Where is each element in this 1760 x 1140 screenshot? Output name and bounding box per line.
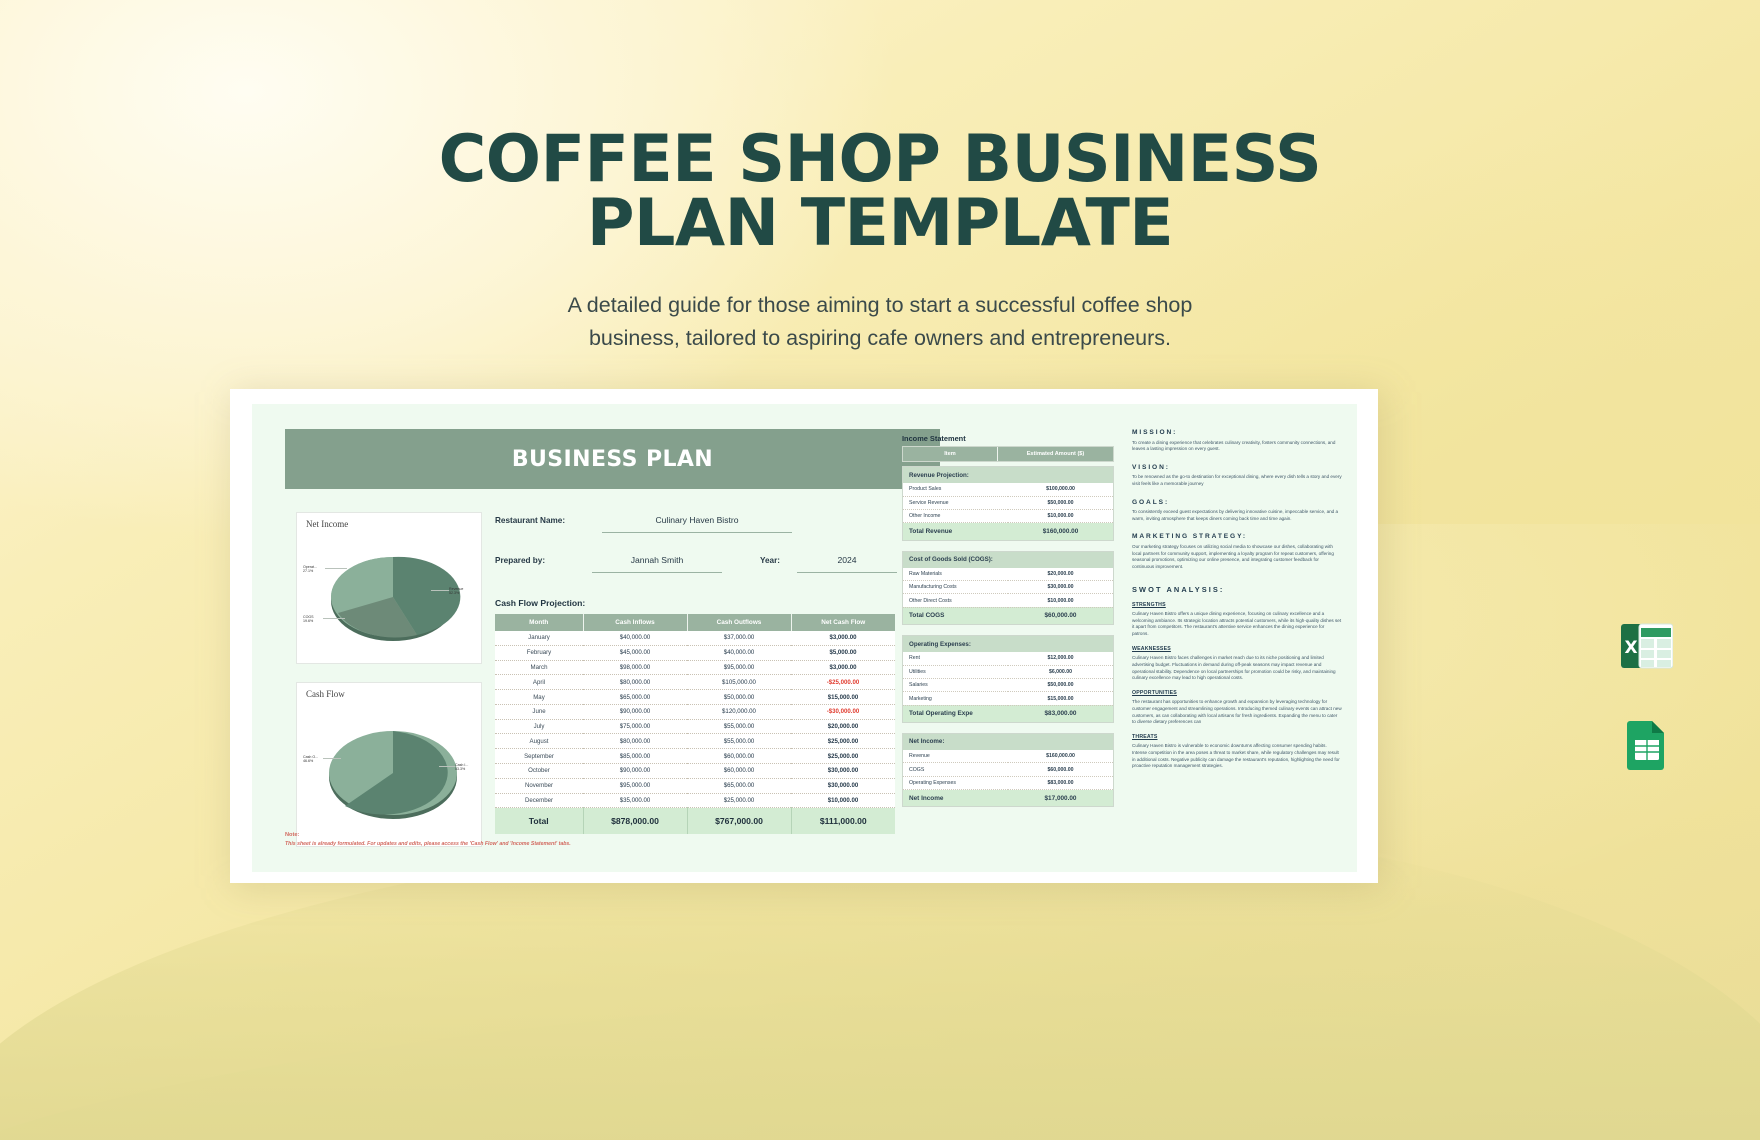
col-cash-inflows: Cash Inflows [583, 614, 687, 631]
cell-cash-inflow: $35,000.00 [583, 793, 687, 808]
pie-leader-cash-in [439, 766, 455, 767]
chart-title-net-income: Net Income [306, 519, 348, 529]
pie-leader-cash-out [323, 758, 341, 759]
col-month: Month [495, 614, 583, 631]
cell-net-cash-flow: $25,000.00 [791, 734, 895, 749]
is-total-label: Total Revenue [903, 523, 1008, 540]
is-total-amount: $160,000.00 [1008, 523, 1113, 540]
pie-label-revenue: Revenue 52.3% [449, 587, 463, 596]
is-total-label: Net Income [903, 790, 1008, 807]
cell-month: October [495, 764, 583, 779]
is-amount: $15,000.00 [1008, 692, 1113, 705]
cell-cash-inflow: $90,000.00 [583, 764, 687, 779]
marketing-strategy-heading: MARKETING STRATEGY: [1132, 533, 1342, 540]
cash-flow-table[interactable]: Month Cash Inflows Cash Outflows Net Cas… [495, 614, 895, 834]
cell-net-cash-flow: -$30,000.00 [791, 704, 895, 719]
year-rule [797, 572, 897, 573]
business-plan-banner: BUSINESS PLAN [285, 429, 940, 489]
strengths-paragraph: Culinary Haven Bistro offers a unique di… [1132, 611, 1342, 638]
strengths-heading: STRENGTHS [1132, 602, 1342, 608]
pie-label-cash-in-text: Cash I... [455, 763, 468, 767]
pie-label-cogs-text: COGS [303, 615, 314, 619]
is-total-row: Net Income$17,000.00 [903, 790, 1113, 807]
page-subtitle-line1: A detailed guide for those aiming to sta… [0, 289, 1760, 321]
pie-leader-revenue [431, 590, 449, 591]
is-row[interactable]: Salaries$50,000.00 [903, 678, 1113, 691]
restaurant-name-label: Restaurant Name: [495, 516, 565, 525]
is-row[interactable]: Other Income$10,000.00 [903, 509, 1113, 522]
is-row[interactable]: Operating Expenses$83,000.00 [903, 776, 1113, 789]
income-statement-label: Income Statement [902, 434, 966, 443]
cell-month: June [495, 704, 583, 719]
pie-label-revenue-text: Revenue [449, 587, 463, 591]
cell-month: July [495, 719, 583, 734]
prepared-by-label: Prepared by: [495, 556, 545, 565]
is-total-amount: $60,000.00 [1008, 607, 1113, 624]
opportunities-heading: OPPORTUNITIES [1132, 690, 1342, 696]
banner-title: BUSINESS PLAN [512, 447, 713, 472]
pie-label-cogs-value: 19.6% [303, 619, 313, 623]
table-row[interactable]: January$40,000.00$37,000.00$3,000.00 [495, 631, 895, 645]
page-header: COFFEE SHOP BUSINESS PLAN TEMPLATE A det… [0, 128, 1760, 354]
is-amount: $30,000.00 [1008, 581, 1113, 594]
is-item: Other Direct Costs [903, 594, 1008, 607]
is-item: Revenue [903, 750, 1008, 763]
cell-cash-outflow: $25,000.00 [687, 793, 791, 808]
cell-month: August [495, 734, 583, 749]
table-row[interactable]: May$65,000.00$50,000.00$15,000.00 [495, 690, 895, 705]
is-item: Rent [903, 652, 1008, 665]
is-item: Raw Materials [903, 568, 1008, 581]
cell-cash-inflow: $95,000.00 [583, 778, 687, 793]
chart-card-net-income: Net Income Operat... 27.1% Revenue 52.3% [296, 512, 482, 664]
is-row[interactable]: Product Sales$100,000.00 [903, 483, 1113, 496]
cell-net-cash-flow: $3,000.00 [791, 631, 895, 645]
cell-cash-inflow: $98,000.00 [583, 660, 687, 675]
is-item: COGS [903, 763, 1008, 776]
swot-analysis-heading: SWOT ANALYSIS: [1132, 585, 1342, 594]
is-item: Manufacturing Costs [903, 581, 1008, 594]
cell-net-cash-flow: -$25,000.00 [791, 675, 895, 690]
income-statement-block[interactable]: ItemEstimated Amount ($)Revenue Projecti… [902, 446, 1114, 817]
document-preview[interactable]: BUSINESS PLAN Net Income Operat... 27.1% [230, 389, 1378, 883]
is-amount: $83,000.00 [1008, 776, 1113, 789]
cell-net-cash-flow: $5,000.00 [791, 645, 895, 660]
threats-paragraph: Culinary Haven Bistro is vulnerable to e… [1132, 743, 1342, 770]
table-row[interactable]: April$80,000.00$105,000.00-$25,000.00 [495, 675, 895, 690]
cell-net-cash-flow: $25,000.00 [791, 749, 895, 764]
cash-flow-body: January$40,000.00$37,000.00$3,000.00Febr… [495, 631, 895, 834]
is-total-label: Total Operating Expe [903, 705, 1008, 722]
cell-cash-inflow: $40,000.00 [583, 631, 687, 645]
is-total-label: Total COGS [903, 607, 1008, 624]
cell-net-cash-flow: $30,000.00 [791, 778, 895, 793]
pie-label-revenue-value: 52.3% [449, 591, 459, 595]
is-amount: $6,000.00 [1008, 665, 1113, 678]
is-row[interactable]: Utilities$6,000.00 [903, 665, 1113, 678]
pie-label-cash-out-value: 46.6% [303, 759, 313, 763]
is-row[interactable]: COGS$60,000.00 [903, 763, 1113, 776]
pie-label-cash-out: Cash O... 46.6% [303, 755, 318, 764]
table-row[interactable]: November$95,000.00$65,000.00$30,000.00 [495, 778, 895, 793]
income-statement-group-3[interactable]: Net Income:Revenue$160,000.00COGS$60,000… [902, 733, 1114, 808]
cell-month: January [495, 631, 583, 645]
mission-paragraph: To create a dining experience that celeb… [1132, 440, 1342, 453]
is-item: Other Income [903, 509, 1008, 522]
is-group-head: Net Income: [903, 734, 1113, 750]
is-total-amount: $83,000.00 [1008, 705, 1113, 722]
pie-chart-cash-flow: Cash O... 46.6% Cash I... 53.3% [297, 705, 481, 842]
cell-month: March [495, 660, 583, 675]
cell-cash-inflow: $80,000.00 [583, 734, 687, 749]
is-amount: $50,000.00 [1008, 496, 1113, 509]
pie-leader-cogs [323, 618, 345, 619]
cell-month: April [495, 675, 583, 690]
table-row[interactable]: September$85,000.00$60,000.00$25,000.00 [495, 749, 895, 764]
is-item: Marketing [903, 692, 1008, 705]
chart-card-cash-flow: Cash Flow Cash O... 46.6% Cash I... 53.3… [296, 682, 482, 847]
cell-cash-inflow: $80,000.00 [583, 675, 687, 690]
cell-cash-outflow: $50,000.00 [687, 690, 791, 705]
table-row[interactable]: March$98,000.00$95,000.00$3,000.00 [495, 660, 895, 675]
is-amount: $10,000.00 [1008, 509, 1113, 522]
is-group-head: Operating Expenses: [903, 636, 1113, 652]
vision-heading: VISION: [1132, 464, 1342, 471]
vision-paragraph: To be renowned as the go-to destination … [1132, 474, 1342, 487]
is-amount: $60,000.00 [1008, 763, 1113, 776]
cell-cash-outflow: $120,000.00 [687, 704, 791, 719]
is-total-row: Total Operating Expe$83,000.00 [903, 705, 1113, 722]
is-item: Operating Expenses [903, 776, 1008, 789]
is-total-amount: $17,000.00 [1008, 790, 1113, 807]
prepared-by-rule [592, 572, 722, 573]
cell-cash-outflow: $37,000.00 [687, 631, 791, 645]
weaknesses-paragraph: Culinary Haven Bistro faces challenges i… [1132, 655, 1342, 682]
is-amount: $20,000.00 [1008, 568, 1113, 581]
is-amount: $100,000.00 [1008, 483, 1113, 496]
table-row[interactable]: August$80,000.00$55,000.00$25,000.00 [495, 734, 895, 749]
opportunities-paragraph: The restaurant has opportunities to enha… [1132, 699, 1342, 726]
cell-net-cash-flow: $30,000.00 [791, 764, 895, 779]
weaknesses-heading: WEAKNESSES [1132, 646, 1342, 652]
cell-month: February [495, 645, 583, 660]
cell-month: September [495, 749, 583, 764]
pie-label-cash-in: Cash I... 53.3% [455, 763, 468, 772]
total-cell-0: Total [495, 808, 583, 835]
pie-label-operating-text: Operat... [303, 565, 317, 569]
prepared-by-value[interactable]: Jannah Smith [592, 555, 722, 565]
cell-cash-inflow: $85,000.00 [583, 749, 687, 764]
cell-cash-inflow: $65,000.00 [583, 690, 687, 705]
is-row[interactable]: Rent$12,000.00 [903, 652, 1113, 665]
spreadsheet-sheet: BUSINESS PLAN Net Income Operat... 27.1% [252, 404, 1357, 872]
is-amount: $10,000.00 [1008, 594, 1113, 607]
pie-label-cash-in-value: 53.3% [455, 767, 465, 771]
cell-cash-outflow: $40,000.00 [687, 645, 791, 660]
mission-heading: MISSION: [1132, 429, 1342, 436]
cell-cash-outflow: $105,000.00 [687, 675, 791, 690]
is-row[interactable]: Service Revenue$50,000.00 [903, 496, 1113, 509]
is-amount: $50,000.00 [1008, 678, 1113, 691]
marketing-strategy-paragraph: Our marketing strategy focuses on utiliz… [1132, 544, 1342, 571]
note-body: This sheet is already formulated. For up… [285, 841, 571, 847]
table-row[interactable]: February$45,000.00$40,000.00$5,000.00 [495, 645, 895, 660]
page-subtitle-line2: business, tailored to aspiring cafe owne… [0, 322, 1760, 354]
year-label: Year: [760, 556, 780, 565]
cell-cash-outflow: $55,000.00 [687, 734, 791, 749]
cell-cash-outflow: $55,000.00 [687, 719, 791, 734]
goals-heading: GOALS: [1132, 499, 1342, 506]
table-row[interactable]: July$75,000.00$55,000.00$20,000.00 [495, 719, 895, 734]
table-row[interactable]: December$35,000.00$25,000.00$10,000.00 [495, 793, 895, 808]
cell-month: December [495, 793, 583, 808]
cell-cash-outflow: $60,000.00 [687, 764, 791, 779]
cell-net-cash-flow: $15,000.00 [791, 690, 895, 705]
total-cell-2: $767,000.00 [687, 808, 791, 835]
cell-cash-outflow: $65,000.00 [687, 778, 791, 793]
income-statement-header: ItemEstimated Amount ($) [902, 446, 1114, 462]
is-group-head: Revenue Projection: [903, 467, 1113, 483]
is-row[interactable]: Raw Materials$20,000.00 [903, 568, 1113, 581]
goals-paragraph: To consistently exceed guest expectation… [1132, 509, 1342, 522]
cell-net-cash-flow: $20,000.00 [791, 719, 895, 734]
is-amount: $12,000.00 [1008, 652, 1113, 665]
cash-flow-header-row: Month Cash Inflows Cash Outflows Net Cas… [495, 614, 895, 631]
svg-text:X: X [1624, 638, 1637, 658]
pie-leader-operating [325, 568, 347, 569]
cell-month: November [495, 778, 583, 793]
is-item: Utilities [903, 665, 1008, 678]
pie-label-cash-out-text: Cash O... [303, 755, 318, 759]
total-cell-3: $111,000.00 [791, 808, 895, 835]
pie-label-operating-value: 27.1% [303, 569, 313, 573]
is-item: Service Revenue [903, 496, 1008, 509]
cash-flow-section-label: Cash Flow Projection: [495, 598, 585, 608]
pie-chart-net-income: Operat... 27.1% Revenue 52.3% COGS 19.6% [297, 535, 481, 659]
cell-cash-inflow: $45,000.00 [583, 645, 687, 660]
note-title: Note: [285, 832, 299, 838]
is-total-row: Total Revenue$160,000.00 [903, 523, 1113, 540]
cell-cash-inflow: $75,000.00 [583, 719, 687, 734]
is-col-amount: Estimated Amount ($) [998, 447, 1114, 461]
google-sheets-icon[interactable] [1621, 718, 1673, 770]
table-row[interactable]: October$90,000.00$60,000.00$30,000.00 [495, 764, 895, 779]
pie-label-cogs: COGS 19.6% [303, 615, 314, 624]
page-subtitle: A detailed guide for those aiming to sta… [0, 289, 1760, 354]
cell-cash-outflow: $95,000.00 [687, 660, 791, 675]
is-item: Salaries [903, 678, 1008, 691]
income-statement-group-2[interactable]: Operating Expenses:Rent$12,000.00Utiliti… [902, 635, 1114, 723]
page-title-line2: PLAN TEMPLATE [0, 192, 1760, 256]
col-cash-outflows: Cash Outflows [687, 614, 791, 631]
table-total-row: Total$878,000.00$767,000.00$111,000.00 [495, 808, 895, 835]
income-statement-group-1[interactable]: Cost of Goods Sold (COGS):Raw Materials$… [902, 551, 1114, 626]
cell-month: May [495, 690, 583, 705]
cell-net-cash-flow: $3,000.00 [791, 660, 895, 675]
table-row[interactable]: June$90,000.00$120,000.00-$30,000.00 [495, 704, 895, 719]
is-item: Product Sales [903, 483, 1008, 496]
narrative-column: MISSION: To create a dining experience t… [1132, 429, 1342, 770]
year-value[interactable]: 2024 [797, 555, 897, 565]
restaurant-name-value[interactable]: Culinary Haven Bistro [602, 515, 792, 525]
is-row[interactable]: Other Direct Costs$10,000.00 [903, 594, 1113, 607]
cell-net-cash-flow: $10,000.00 [791, 793, 895, 808]
is-amount: $160,000.00 [1008, 750, 1113, 763]
total-cell-1: $878,000.00 [583, 808, 687, 835]
col-net-cash-flow: Net Cash Flow [791, 614, 895, 631]
excel-icon[interactable]: X [1621, 620, 1673, 672]
threats-heading: THREATS [1132, 734, 1342, 740]
cell-cash-inflow: $90,000.00 [583, 704, 687, 719]
income-statement-group-0[interactable]: Revenue Projection:Product Sales$100,000… [902, 466, 1114, 541]
chart-title-cash-flow: Cash Flow [306, 689, 345, 699]
is-total-row: Total COGS$60,000.00 [903, 607, 1113, 624]
is-row[interactable]: Revenue$160,000.00 [903, 750, 1113, 763]
restaurant-name-rule [602, 532, 792, 533]
is-row[interactable]: Manufacturing Costs$30,000.00 [903, 581, 1113, 594]
is-group-head: Cost of Goods Sold (COGS): [903, 552, 1113, 568]
pie-label-operating: Operat... 27.1% [303, 565, 317, 574]
page-title: COFFEE SHOP BUSINESS PLAN TEMPLATE [0, 128, 1760, 255]
is-row[interactable]: Marketing$15,000.00 [903, 692, 1113, 705]
cell-cash-outflow: $60,000.00 [687, 749, 791, 764]
is-col-item: Item [903, 447, 998, 461]
